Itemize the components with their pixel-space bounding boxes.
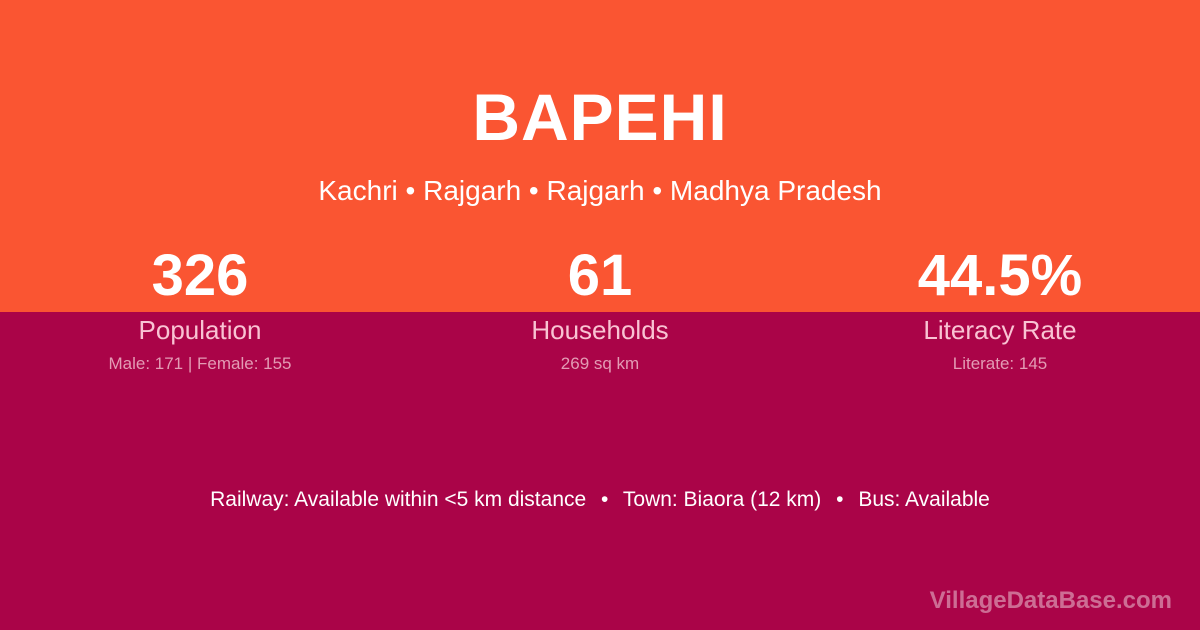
service-separator-icon: •	[592, 488, 617, 511]
stat-households: 61 Households 269 sq km	[400, 243, 800, 374]
service-railway: Railway: Available within <5 km distance	[210, 488, 586, 511]
stats-row: 326 Population Male: 171 | Female: 155 6…	[0, 243, 1200, 374]
page-title: BAPEHI	[0, 0, 1200, 150]
service-town: Town: Biaora (12 km)	[623, 488, 821, 511]
village-summary-card: BAPEHI Kachri • Rajgarh • Rajgarh • Madh…	[0, 0, 1200, 630]
breadcrumb: Kachri • Rajgarh • Rajgarh • Madhya Prad…	[0, 150, 1200, 205]
stat-households-label: Households	[400, 315, 800, 345]
stat-population-breakdown: Male: 171 | Female: 155	[0, 354, 400, 374]
stat-households-area: 269 sq km	[400, 354, 800, 374]
service-bus: Bus: Available	[858, 488, 990, 511]
stat-literacy-value: 44.5%	[800, 243, 1200, 309]
service-separator-icon-2: •	[827, 488, 852, 511]
stat-literacy-count: Literate: 145	[800, 354, 1200, 374]
stat-literacy: 44.5% Literacy Rate Literate: 145	[800, 243, 1200, 374]
stat-households-value: 61	[400, 243, 800, 309]
services-line: Railway: Available within <5 km distance…	[0, 485, 1200, 515]
site-brand: VillageDataBase.com	[930, 586, 1172, 616]
stat-literacy-label: Literacy Rate	[800, 315, 1200, 345]
card-header: BAPEHI Kachri • Rajgarh • Rajgarh • Madh…	[0, 0, 1200, 205]
stat-population: 326 Population Male: 171 | Female: 155	[0, 243, 400, 374]
stat-population-value: 326	[0, 243, 400, 309]
stat-population-label: Population	[0, 315, 400, 345]
